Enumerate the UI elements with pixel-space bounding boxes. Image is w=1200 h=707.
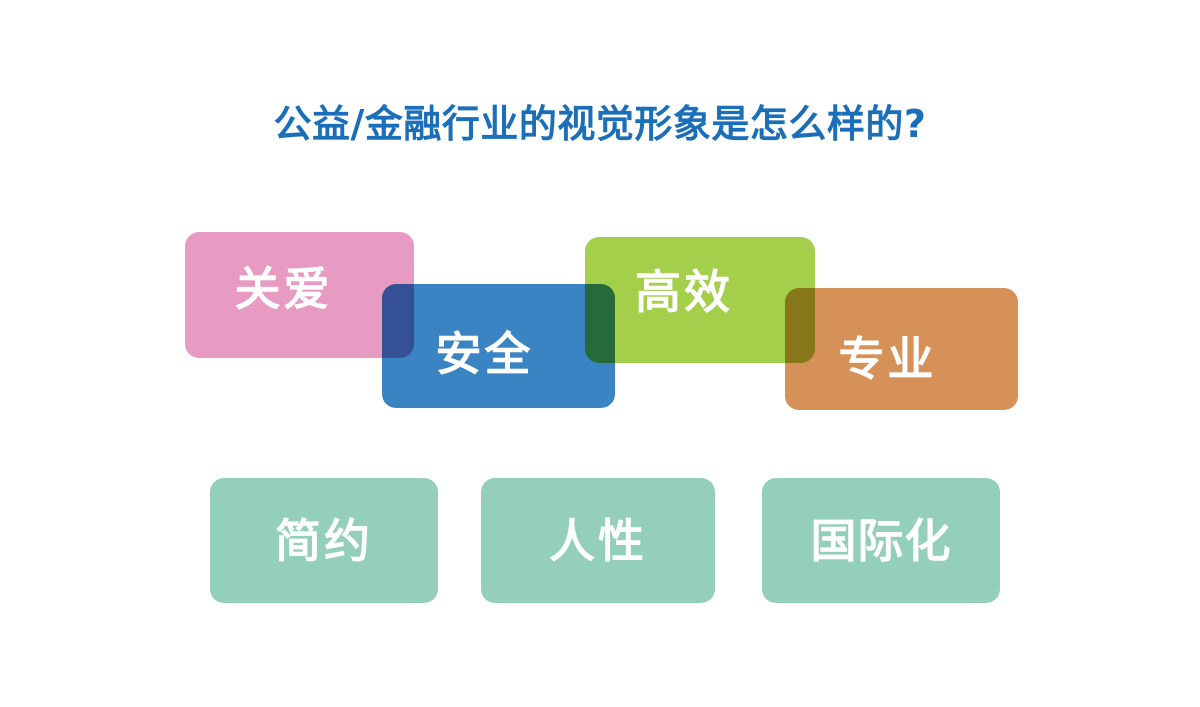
keyword-card-international[interactable]: 国际化: [762, 478, 1000, 603]
keyword-card-label: 简约: [275, 518, 373, 564]
keyword-card-simple[interactable]: 简约: [210, 478, 438, 603]
keyword-card-label: 国际化: [811, 518, 952, 564]
keyword-card-label: 人性: [549, 518, 647, 564]
keyword-card-humane[interactable]: 人性: [481, 478, 715, 603]
slide-canvas: 公益/金融行业的视觉形象是怎么样的? 关爱 安全 高效 专业 简约 人性 国际化: [0, 0, 1200, 707]
keyword-group-mint-row: 简约 人性 国际化: [0, 0, 1200, 707]
